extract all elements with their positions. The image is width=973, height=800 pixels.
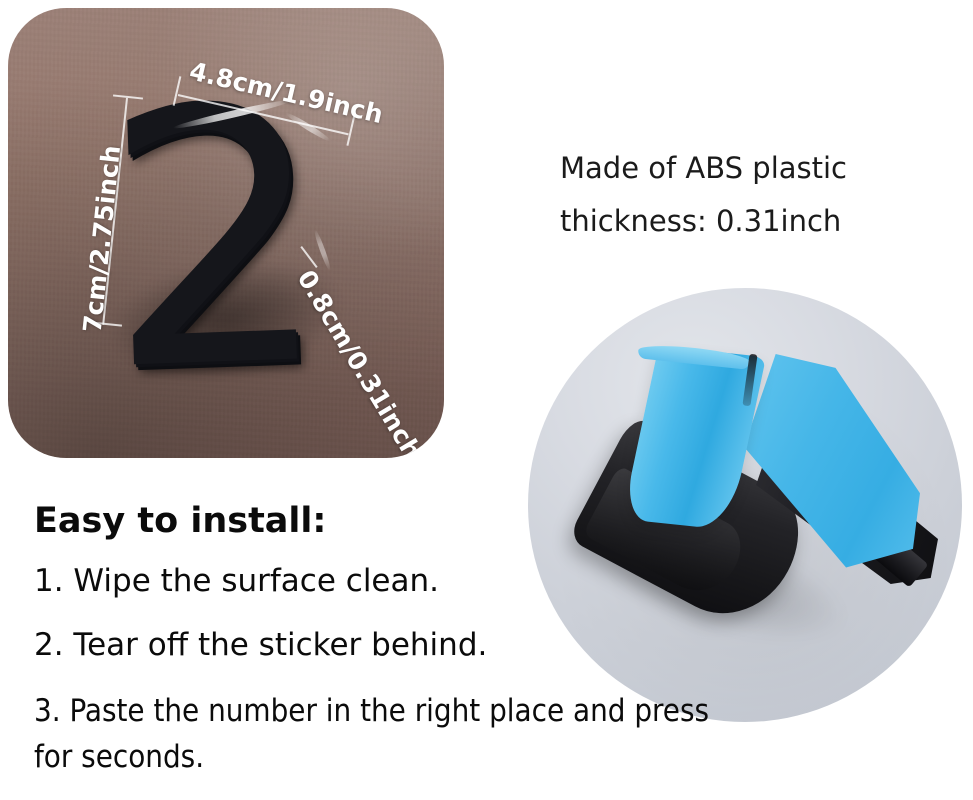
install-instructions: Easy to install: 1. Wipe the surface cle… (34, 498, 754, 780)
install-step-2: 2. Tear off the sticker behind. (34, 624, 754, 666)
install-step-3: 3. Paste the number in the right place a… (34, 688, 744, 780)
material-line-1: Made of ABS plastic (560, 142, 960, 195)
install-step-1: 1. Wipe the surface clean. (34, 560, 754, 602)
install-heading: Easy to install: (34, 498, 754, 544)
material-description: Made of ABS plastic thickness: 0.31inch (560, 142, 960, 248)
numeral-glyph: 2 (98, 72, 333, 410)
product-dimensions-photo: 2 4.8cm/1.9inch 7cm/2.75inch 0.8cm/0.31i… (8, 8, 444, 458)
material-line-2: thickness: 0.31inch (560, 195, 960, 248)
